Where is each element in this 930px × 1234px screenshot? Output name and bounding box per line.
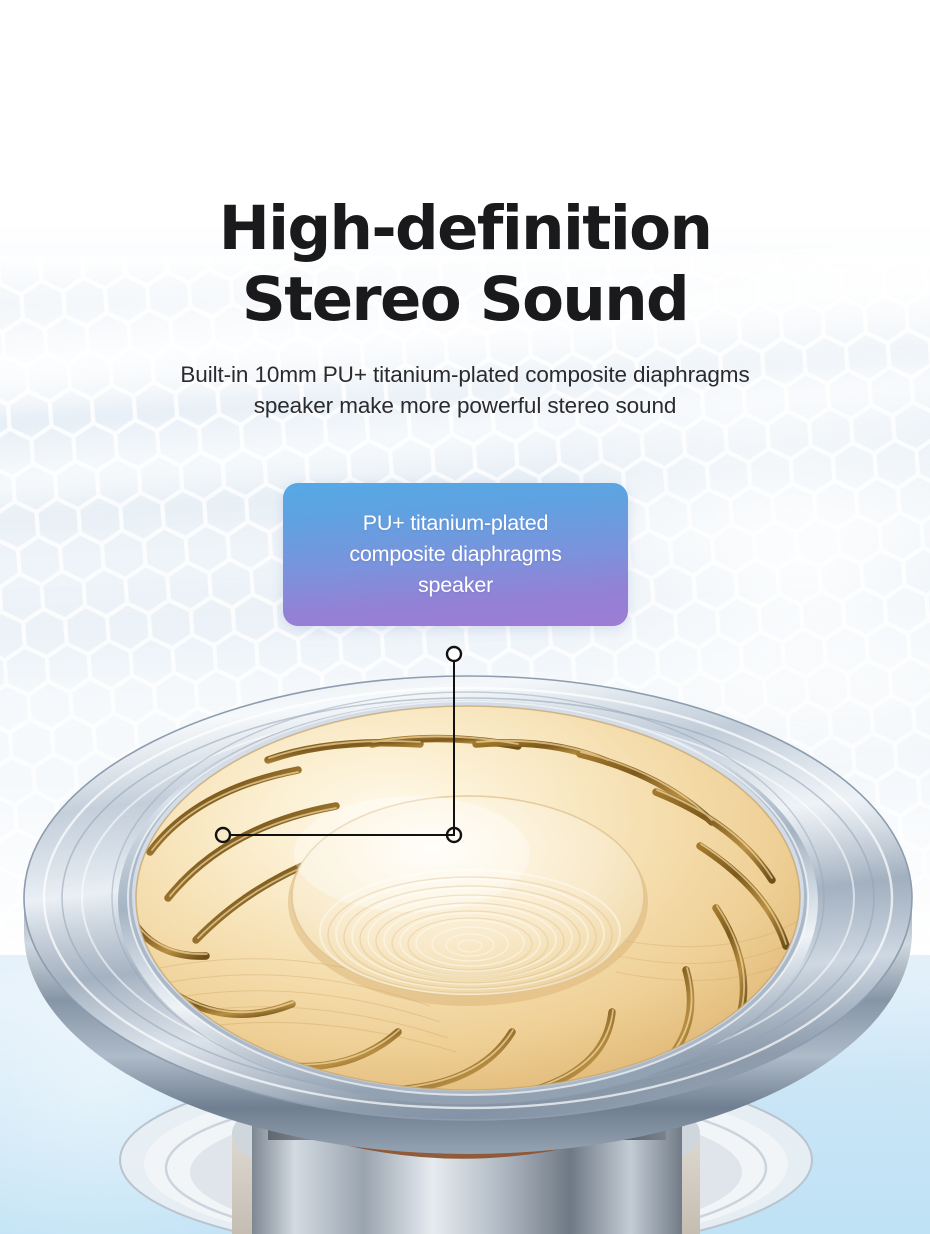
page-subtitle: Built-in 10mm PU+ titanium-plated compos… [0,359,930,421]
callout-text: PU+ titanium-plated composite diaphragms… [335,508,575,600]
subtitle-line-1: Built-in 10mm PU+ titanium-plated compos… [180,362,749,387]
callout-line-2: composite diaphragms [349,539,561,570]
driver-body [24,660,912,1154]
headline-line-1: High-definition [219,193,712,264]
callout-line-1: PU+ titanium-plated [349,508,561,539]
headline-line-2: Stereo Sound [0,264,930,335]
product-feature-graphic: High-definition Stereo Sound Built-in 10… [0,0,930,1234]
page-title: High-definition Stereo Sound [0,193,930,336]
callout-line-3: speaker [349,570,561,601]
subtitle-line-2: speaker make more powerful stereo sound [0,390,930,421]
feature-callout-badge: PU+ titanium-plated composite diaphragms… [283,483,628,626]
speaker-driver-illustration [0,640,930,1234]
